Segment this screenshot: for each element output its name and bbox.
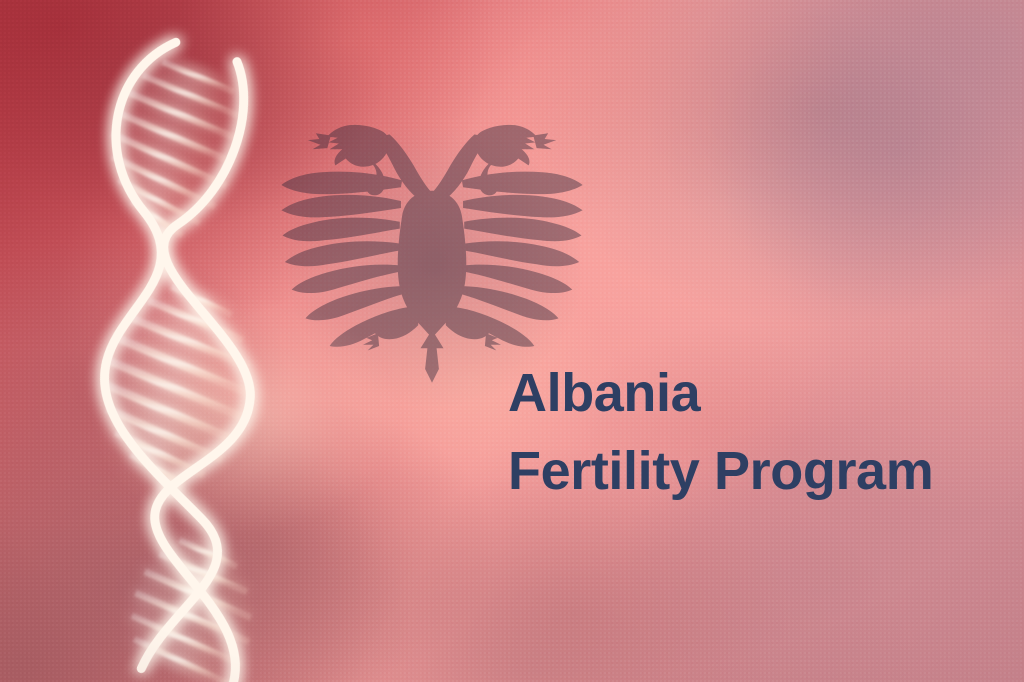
background-cloud-mottling [0,0,1024,682]
eagle-silhouette [281,125,582,383]
title-line-program: Fertility Program [508,444,1008,498]
page-title: Albania Fertility Program [508,366,1008,498]
dna-helix-graphic [0,30,470,682]
background-vignette [0,0,1024,682]
background-grain-texture [0,0,1024,682]
banner-image: Albania Fertility Program [0,0,1024,682]
dna-glow-halo [30,250,460,580]
background-base-gradient [0,0,1024,682]
title-line-country: Albania [508,366,1008,420]
background-haze-overlay [0,0,1024,682]
